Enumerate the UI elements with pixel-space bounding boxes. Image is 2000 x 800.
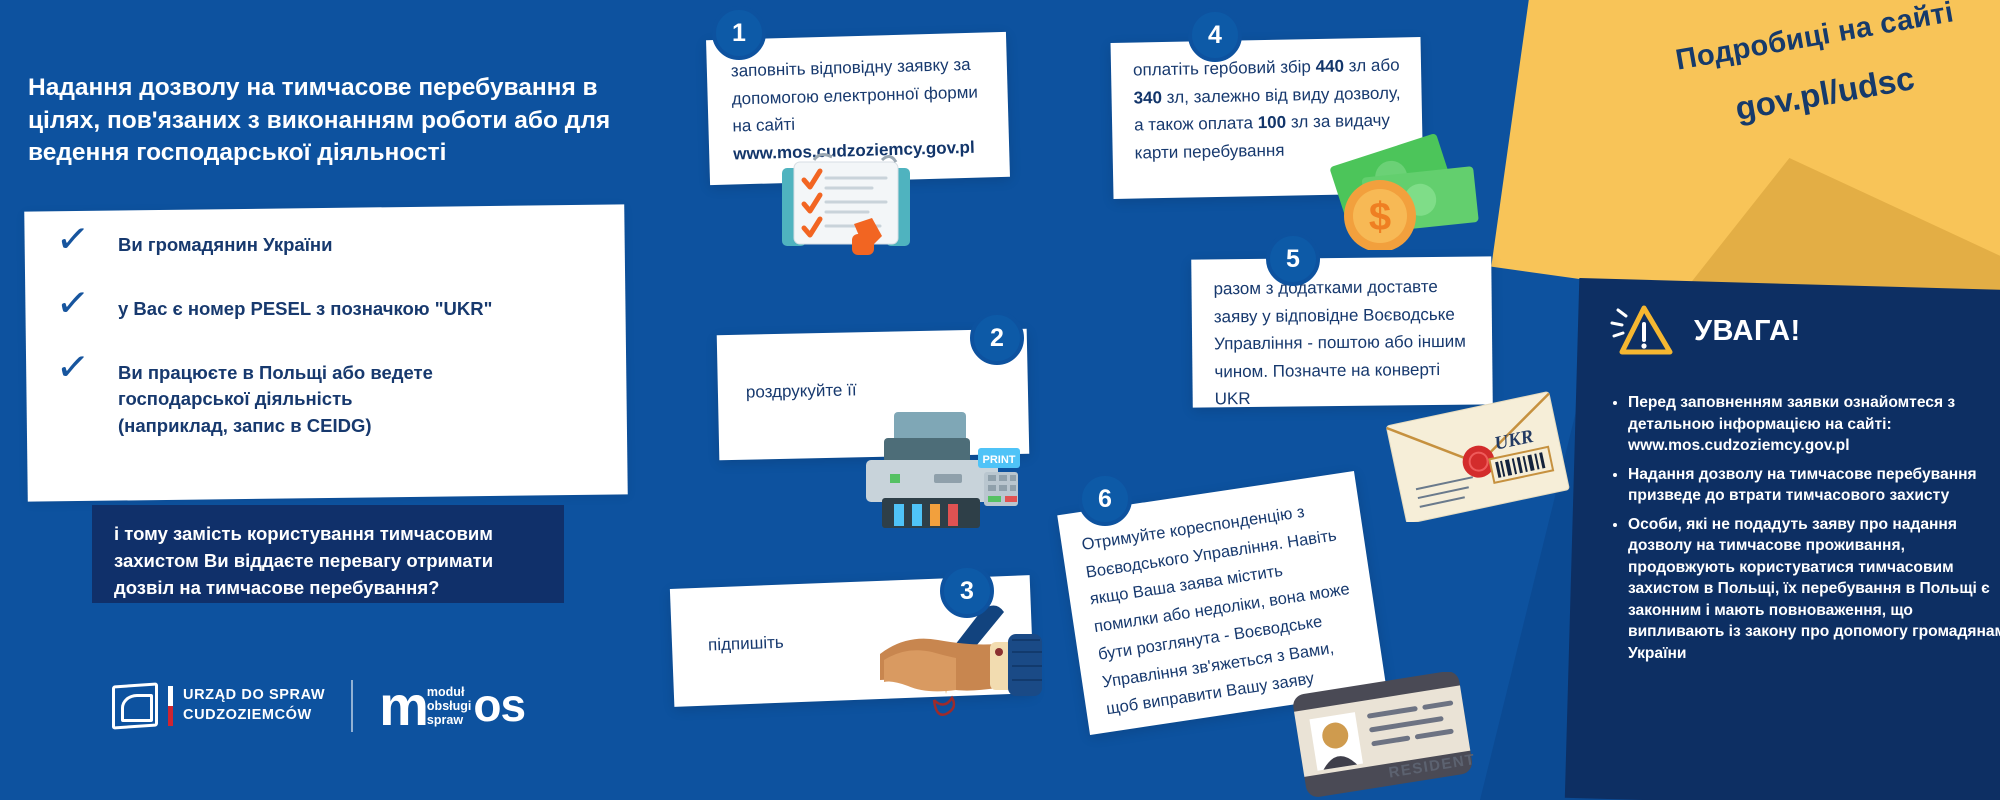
step-1-text: заповніть відповідну заявку за допомогою… bbox=[731, 50, 990, 167]
udsc-line-1: URZĄD DO SPRAW bbox=[183, 686, 325, 706]
list-item: ✓ у Вас є номер PESEL з позначкою "UKR" bbox=[56, 292, 616, 326]
warning-header: УВАГА! bbox=[1610, 302, 1801, 360]
mos-logo: m moduł obsługi spraw os bbox=[379, 684, 525, 729]
step-card-4: оплатіть гербовий збір 440 зл або 340 зл… bbox=[1111, 37, 1424, 199]
udsc-logo: URZĄD DO SPRAW CUDZOZIEMCÓW bbox=[112, 684, 325, 728]
check-icon: ✓ bbox=[54, 221, 119, 261]
checklist-item-label: Ви працюєте в Польщі або ведете господар… bbox=[118, 356, 448, 439]
step-6-text: Отримуйте кореспонденцію з Воєводського … bbox=[1080, 493, 1368, 724]
logo-divider bbox=[351, 680, 353, 732]
udsc-logo-text: URZĄD DO SPRAW CUDZOZIEMCÓW bbox=[183, 686, 325, 725]
warning-item: Особи, які не подадуть заяву про надання… bbox=[1628, 514, 2000, 665]
list-item: ✓ Ви громадянин України bbox=[56, 228, 616, 262]
warning-title: УВАГА! bbox=[1694, 315, 1801, 348]
udsc-emblem-icon bbox=[112, 684, 158, 728]
step-number-badge-6: 6 bbox=[1078, 472, 1132, 526]
mos-subtitle: moduł obsługi spraw bbox=[427, 685, 471, 727]
flag-bars-icon bbox=[168, 686, 173, 726]
checklist-item-label: у Вас є номер PESEL з позначкою "UKR" bbox=[118, 292, 492, 322]
mos-letters-os: os bbox=[473, 686, 525, 725]
list-item: ✓ Ви працюєте в Польщі або ведете господ… bbox=[56, 356, 616, 439]
mos-sub-2: obsługi bbox=[427, 699, 471, 713]
warning-triangle-icon bbox=[1610, 302, 1674, 360]
mos-sub-1: moduł bbox=[427, 685, 471, 699]
check-icon: ✓ bbox=[54, 349, 119, 389]
check-icon: ✓ bbox=[54, 285, 119, 325]
step-number-badge-5: 5 bbox=[1266, 232, 1320, 286]
step-2-text: роздрукуйте її bbox=[746, 376, 857, 406]
step-4-text: оплатіть гербовий збір 440 зл або 340 зл… bbox=[1133, 51, 1403, 166]
checklist-item-label: Ви громадянин України bbox=[118, 228, 332, 258]
warning-item: Надання дозволу на тимчасове перебування… bbox=[1628, 464, 2000, 507]
page-title: Надання дозволу на тимчасове перебування… bbox=[28, 72, 628, 170]
infographic-canvas: Подробиці на сайті gov.pl/udsc Надання д… bbox=[0, 0, 2000, 800]
step-3-text: підпишіть bbox=[708, 629, 785, 659]
step-number-badge-2: 2 bbox=[970, 311, 1024, 365]
step-card-5: разом з додатками доставте заяву у відпо… bbox=[1191, 256, 1493, 407]
mos-letter-m: m bbox=[379, 684, 427, 729]
checklist: ✓ Ви громадянин України ✓ у Вас є номер … bbox=[56, 228, 616, 469]
warning-item: Перед заповненням заявки ознайомтеся з д… bbox=[1628, 392, 2000, 457]
warning-list: Перед заповненням заявки ознайомтеся з д… bbox=[1608, 392, 2000, 671]
question-box-text: і тому замість користування тимчасовим з… bbox=[114, 520, 544, 601]
footer-logos: URZĄD DO SPRAW CUDZOZIEMCÓW m moduł obsł… bbox=[112, 680, 525, 732]
mos-sub-3: spraw bbox=[427, 713, 471, 727]
step-5-text: разом з додатками доставте заяву у відпо… bbox=[1213, 273, 1476, 413]
udsc-line-2: CUDZOZIEMCÓW bbox=[183, 706, 325, 726]
step-number-badge-3: 3 bbox=[940, 564, 994, 618]
step-number-badge-1: 1 bbox=[712, 6, 766, 60]
step-number-badge-4: 4 bbox=[1188, 8, 1242, 62]
